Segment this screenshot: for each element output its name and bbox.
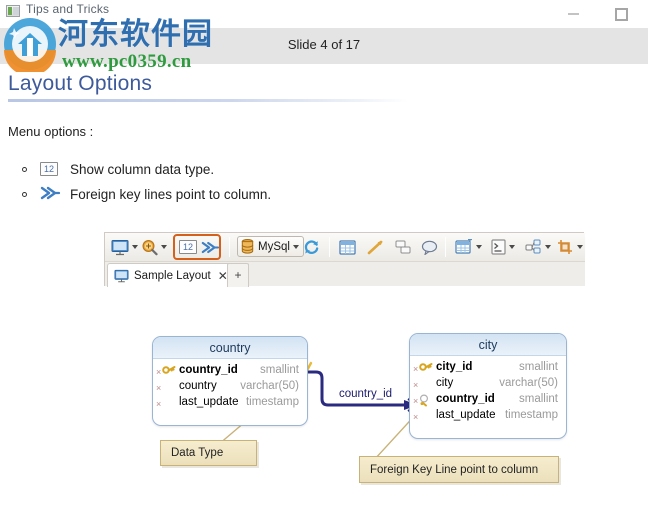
bullet-marker xyxy=(22,192,27,197)
slide-viewer-window: Tips and Tricks Slide 4 of 17 河东软件园 www.… xyxy=(0,0,648,529)
add-tab-button[interactable]: + xyxy=(227,263,249,287)
page-title: Layout Options xyxy=(8,72,152,96)
table-row[interactable]: × last_update timestamp xyxy=(410,409,566,425)
column-name: country_id xyxy=(179,364,238,376)
toolbar-row: 12 MySql xyxy=(105,233,585,261)
chevron-down-icon[interactable] xyxy=(476,245,482,249)
database-dropdown-label: MySql xyxy=(258,241,290,253)
display-monitor-icon[interactable] xyxy=(111,236,138,258)
title-bar: Tips and Tricks xyxy=(0,0,648,28)
nullable-marker: × xyxy=(156,367,161,377)
column-name: last_update xyxy=(436,409,495,421)
sql-console-icon[interactable] xyxy=(491,236,515,258)
nullable-marker: × xyxy=(413,380,418,390)
column-name: country_id xyxy=(436,393,495,405)
chevron-down-icon[interactable] xyxy=(161,245,167,249)
show-data-type-icon: 12 xyxy=(40,160,62,178)
column-type: smallint xyxy=(519,361,558,373)
list-item-label: Show column data type. xyxy=(70,162,214,177)
chevron-down-icon[interactable] xyxy=(577,245,583,249)
note-bubble-icon[interactable] xyxy=(421,236,438,258)
er-diagram-canvas: country × country_id smallint × country … xyxy=(0,300,648,529)
bullet-marker xyxy=(22,167,27,172)
nullable-marker: × xyxy=(413,396,418,406)
data-type-callout: Data Type xyxy=(160,440,257,466)
title-underline xyxy=(8,99,408,102)
column-type: smallint xyxy=(260,364,299,376)
crop-layout-icon[interactable] xyxy=(557,236,583,258)
maximize-button[interactable] xyxy=(615,8,628,21)
table-columns: × city_id smallint × city varchar(50) × xyxy=(410,356,566,432)
column-name: city_id xyxy=(436,361,472,373)
auto-layout-icon[interactable] xyxy=(525,236,551,258)
table-row[interactable]: × country varchar(50) xyxy=(153,380,307,396)
chevron-down-icon[interactable] xyxy=(509,245,515,249)
table-row[interactable]: × last_update timestamp xyxy=(153,396,307,412)
tab-label: Sample Layout xyxy=(134,270,211,282)
table-row[interactable]: × city varchar(50) xyxy=(410,377,566,393)
column-type: varchar(50) xyxy=(499,377,558,389)
column-type: timestamp xyxy=(505,409,558,421)
layout-icon xyxy=(114,269,129,283)
callout-text: Data Type xyxy=(171,447,223,459)
chevron-down-icon[interactable] xyxy=(293,245,299,249)
primary-key-icon xyxy=(419,362,433,375)
table-row[interactable]: × country_id smallint xyxy=(410,393,566,409)
column-name: country xyxy=(179,380,217,392)
refresh-icon[interactable] xyxy=(303,236,320,258)
nullable-marker: × xyxy=(413,412,418,422)
table-country[interactable]: country × country_id smallint × country … xyxy=(152,336,308,426)
zoom-in-icon[interactable] xyxy=(141,236,167,258)
toolbar-separator xyxy=(329,237,330,257)
table-city[interactable]: city × city_id smallint × city varchar(5… xyxy=(409,333,567,439)
relationship-label: country_id xyxy=(337,388,394,400)
presentation-icon xyxy=(6,5,20,17)
relation-line-icon[interactable] xyxy=(367,236,384,258)
minimize-button[interactable] xyxy=(568,13,579,15)
column-type: smallint xyxy=(519,393,558,405)
callout-text: Foreign Key Line point to column xyxy=(370,464,538,476)
application-toolbar-panel: 12 MySql xyxy=(104,232,584,286)
table-row[interactable]: × country_id smallint xyxy=(153,364,307,380)
nullable-marker: × xyxy=(156,399,161,409)
foreign-key-icon xyxy=(419,394,433,407)
column-type: timestamp xyxy=(246,396,299,408)
foreign-key-line-callout: Foreign Key Line point to column xyxy=(359,456,559,483)
primary-key-icon xyxy=(162,365,176,378)
table-row[interactable]: × city_id smallint xyxy=(410,361,566,377)
chevron-down-icon[interactable] xyxy=(545,245,551,249)
new-table-icon[interactable] xyxy=(455,236,482,258)
window-title: Tips and Tricks xyxy=(26,2,109,16)
column-name: city xyxy=(436,377,453,389)
double-arrow-icon xyxy=(40,185,62,203)
nullable-marker: × xyxy=(156,383,161,393)
list-item-label: Foreign key lines point to column. xyxy=(70,187,271,202)
slide-counter-label: Slide 4 of 17 xyxy=(0,37,648,52)
toolbar-separator xyxy=(445,237,446,257)
database-dropdown[interactable]: MySql xyxy=(237,236,304,257)
table-icon[interactable] xyxy=(339,236,356,258)
intro-text: Menu options : xyxy=(8,124,93,139)
layout-tab-bar: Sample Layout ✕ + xyxy=(105,261,585,286)
slide-counter-band: Slide 4 of 17 xyxy=(0,28,648,64)
column-type: varchar(50) xyxy=(240,380,299,392)
table-name: country xyxy=(153,337,307,359)
toolbar-separator xyxy=(229,237,230,257)
column-name: last_update xyxy=(179,396,238,408)
tab-sample-layout[interactable]: Sample Layout ✕ xyxy=(107,263,235,287)
toolbar-separator xyxy=(585,237,586,257)
foreign-key-arrow-toolbar-button[interactable] xyxy=(201,236,219,258)
table-columns: × country_id smallint × country varchar(… xyxy=(153,359,307,419)
chevron-down-icon[interactable] xyxy=(132,245,138,249)
group-shapes-icon[interactable] xyxy=(395,236,412,258)
database-icon xyxy=(241,239,254,254)
table-name: city xyxy=(410,334,566,356)
show-data-type-toolbar-button[interactable]: 12 xyxy=(179,236,197,258)
nullable-marker: × xyxy=(413,364,418,374)
